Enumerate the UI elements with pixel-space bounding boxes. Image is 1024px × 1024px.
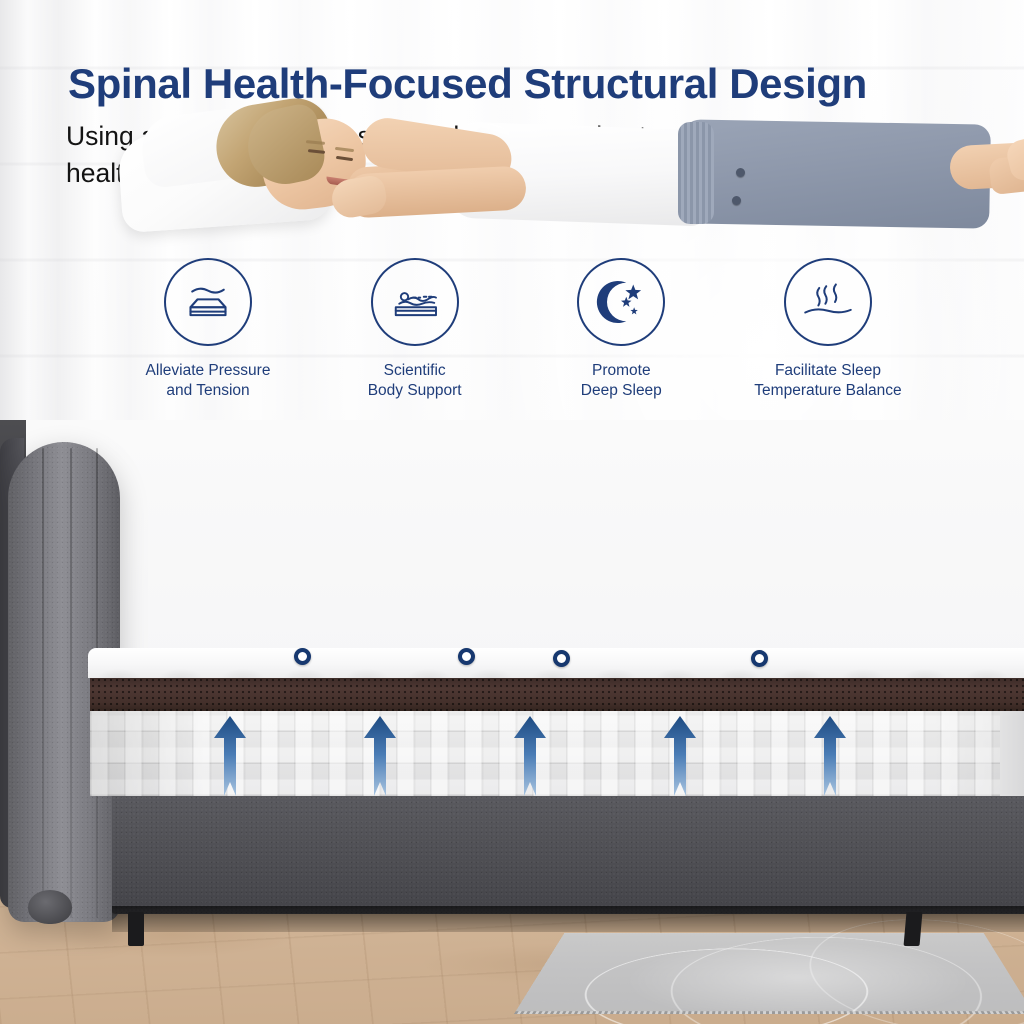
feature-item-temperature-balance: Facilitate Sleep Temperature Balance [738,258,918,402]
headboard-channel-tuft [70,448,72,918]
upward-support-arrow [513,716,547,796]
upward-support-arrow [663,716,697,796]
moon-stars-icon [577,258,665,346]
mattress-pressure-relief-icon [164,258,252,346]
support-point-marker [553,650,570,667]
feature-icon-row: Alleviate Pressure and Tension Scientifi… [118,258,918,418]
bed-leg [128,912,144,946]
person-pajama-button [736,168,745,177]
support-point-marker [751,650,768,667]
bedroom-product-scene [0,420,1024,1024]
body-support-spine-alignment-icon [371,258,459,346]
bed-base-floor-shadow [112,906,1024,932]
upward-support-arrow [813,716,847,796]
feature-label-temperature-balance: Facilitate Sleep Temperature Balance [754,361,901,402]
upward-support-arrow [213,716,247,796]
decor-vase [28,890,72,924]
rug-fringe-edge [514,1011,1024,1014]
person-pajama-pants [679,119,991,228]
sleeping-person [150,78,940,238]
support-point-marker [458,648,475,665]
person-pajama-waistband [678,122,714,224]
feature-label-deep-sleep: Promote Deep Sleep [581,361,662,402]
product-feature-poster: Spinal Health-Focused Structural Design … [0,0,1024,1024]
feature-item-alleviate-pressure: Alleviate Pressure and Tension [118,258,298,402]
mesh-perforation-texture [90,677,1024,711]
feature-item-deep-sleep: Promote Deep Sleep [531,258,711,402]
upward-support-arrow [363,716,397,796]
heat-waves-breathability-icon [784,258,872,346]
person-pajama-button [732,196,741,205]
bed-base-fabric-texture [112,792,1024,914]
bed-leg [904,912,923,946]
feature-label-alleviate-pressure: Alleviate Pressure and Tension [146,361,271,402]
bed-base [112,792,1024,914]
feature-label-body-support: Scientific Body Support [368,361,462,402]
feature-item-body-support: Scientific Body Support [325,258,505,402]
headboard-channel-tuft [42,448,44,918]
mattress-ventilation-mesh-band [90,677,1024,711]
support-point-marker [294,648,311,665]
area-rug [514,933,1024,1014]
